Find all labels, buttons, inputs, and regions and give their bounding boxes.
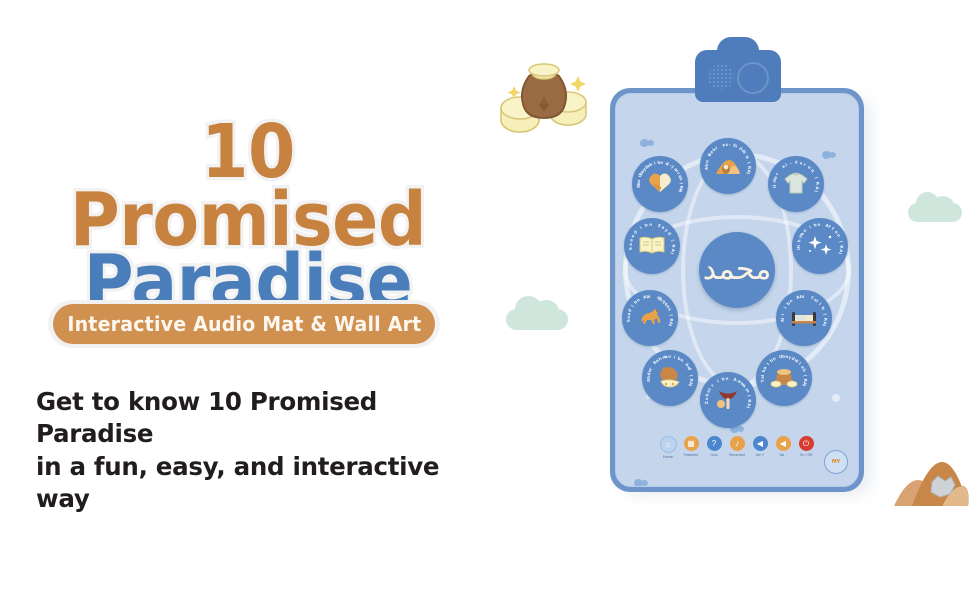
companion-badge[interactable]: Talha ibn Ubaydullah (RA) xyxy=(756,350,812,406)
power-icon: ⏻ xyxy=(799,436,814,451)
control-prophets[interactable]: ▦Prophets xyxy=(683,436,699,457)
companion-badge[interactable]: Abu Ubaydah ibn al-Jarrah (RA) xyxy=(632,156,688,212)
promo-banner: 10 Promised Paradise Interactive Audio M… xyxy=(0,0,970,600)
badge-label: Saeed ibn Zayd (RA) xyxy=(624,218,680,274)
control-label: Prophets xyxy=(684,453,698,457)
mat-surface: 10 Promised Paradise Abu Ubaydah ibn al-… xyxy=(615,93,859,487)
microphone-icon: ♪ xyxy=(730,436,745,451)
calendar-icon: ▦ xyxy=(684,436,699,451)
companion-badge[interactable]: Abdur Rahman ibn Awf (RA) xyxy=(642,350,698,406)
badge-label: Abdur Rahman ibn Awf (RA) xyxy=(642,350,698,406)
headline-line-1: 10 Promised xyxy=(64,118,432,254)
product-type-badge: Interactive Audio Mat & Wall Art xyxy=(53,304,435,344)
headline: 10 Promised Paradise xyxy=(48,118,448,316)
control-home[interactable]: ⌂Home xyxy=(660,436,676,459)
cloud-right-icon xyxy=(908,192,962,222)
badge-label: Umar al-Faruq (RA) xyxy=(768,156,824,212)
speaker-logo-icon xyxy=(737,62,769,94)
control-label: Recorded xyxy=(729,453,745,457)
control-label: Home xyxy=(663,455,673,459)
speaker-module[interactable] xyxy=(695,50,781,102)
lede-text: Get to know 10 Promised Paradise in a fu… xyxy=(36,386,466,515)
badge-label: Talha ibn Ubaydullah (RA) xyxy=(756,350,812,406)
cloud-left-icon xyxy=(506,296,568,330)
home-icon: ⌂ xyxy=(660,436,677,453)
companion-badge[interactable]: Saeed ibn Zayd (RA) xyxy=(624,218,680,274)
control-button-row: ⌂Home▦Prophets?Quiz♪Recorded◀Vol +◀Vol -… xyxy=(616,436,858,470)
companion-badge[interactable]: Abu Bakr as-Siddiq (RA) xyxy=(700,138,756,194)
badge-label: Saad ibn Abi Waqqas (RA) xyxy=(622,290,678,346)
control-label: Vol - xyxy=(779,453,786,457)
control-label: Vol + xyxy=(756,453,765,457)
control-quiz[interactable]: ?Quiz xyxy=(706,436,722,457)
speaker-grill-icon xyxy=(708,64,734,90)
brand-logo: MY xyxy=(824,450,848,474)
control-on-off[interactable]: ⏻On / Off xyxy=(798,436,814,457)
companion-badge[interactable]: Uthman ibn Affan (RA) xyxy=(792,218,848,274)
companion-badge[interactable]: Zubair ibn Awwam (RA) xyxy=(700,372,756,428)
badge-label: Abu Bakr as-Siddiq (RA) xyxy=(700,138,756,194)
companion-badge[interactable]: Ali ibn Abi Talib (RA) xyxy=(776,290,832,346)
lede-line-2: in a fun, easy, and interactive way xyxy=(36,451,466,516)
volume-down-icon: ◀ xyxy=(776,436,791,451)
money-bag-icon xyxy=(496,48,592,140)
lede-line-1: Get to know 10 Promised Paradise xyxy=(36,386,466,451)
center-medallion[interactable]: محمد xyxy=(699,232,775,308)
control-vol[interactable]: ◀Vol - xyxy=(775,436,791,457)
control-label: Quiz xyxy=(710,453,717,457)
copy-block: 10 Promised Paradise Interactive Audio M… xyxy=(0,0,500,600)
decor-dot xyxy=(832,394,840,402)
control-label: On / Off xyxy=(800,453,813,457)
badge-label: Uthman ibn Affan (RA) xyxy=(792,218,848,274)
control-recorded[interactable]: ♪Recorded xyxy=(729,436,745,457)
badge-label: Abu Ubaydah ibn al-Jarrah (RA) xyxy=(632,156,688,212)
badge-label: Zubair ibn Awwam (RA) xyxy=(700,372,756,428)
sand-dunes-icon xyxy=(892,448,970,514)
companion-badge[interactable]: Umar al-Faruq (RA) xyxy=(768,156,824,212)
product-type-badge-label: Interactive Audio Mat & Wall Art xyxy=(67,312,421,336)
volume-up-icon: ◀ xyxy=(753,436,768,451)
center-medallion-calligraphy: محمد xyxy=(703,255,772,285)
badge-label: Ali ibn Abi Talib (RA) xyxy=(776,290,832,346)
paw-mark-icon xyxy=(634,478,648,487)
companion-badge[interactable]: Saad ibn Abi Waqqas (RA) xyxy=(622,290,678,346)
question-icon: ? xyxy=(707,436,722,451)
control-vol[interactable]: ◀Vol + xyxy=(752,436,768,457)
interactive-audio-mat[interactable]: 10 Promised Paradise Abu Ubaydah ibn al-… xyxy=(610,88,864,492)
